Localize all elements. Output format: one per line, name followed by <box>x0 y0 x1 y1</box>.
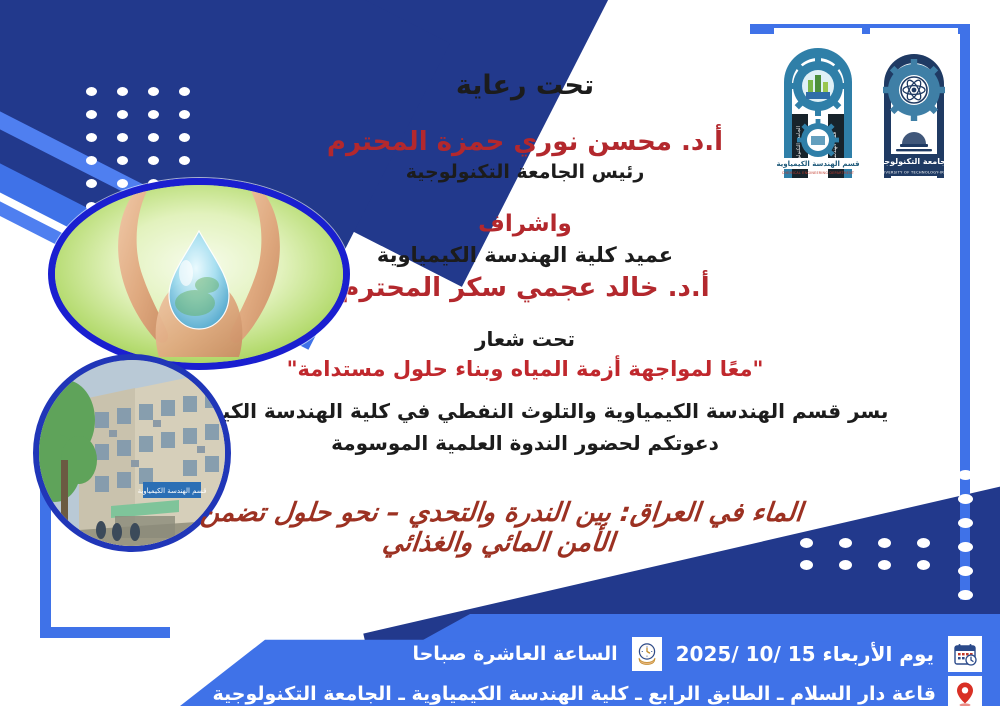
svg-text:CHEMICAL ENGINEERING DEPARTMEN: CHEMICAL ENGINEERING DEPARTMENT <box>782 171 855 175</box>
svg-text:UNIVERSITY OF TECHNOLOGY-IRAQ: UNIVERSITY OF TECHNOLOGY-IRAQ <box>878 171 949 175</box>
clock-icon <box>632 637 662 671</box>
footer-date-row: يوم الأربعاء 15 /10 /2025 الساعة العاشرة… <box>412 636 982 672</box>
hands-holding-water-drop-photo <box>48 178 350 370</box>
svg-text:قسم الهندسة الكيمياوية: قسم الهندسة الكيمياوية <box>138 487 207 495</box>
invitation-line-1: يسر قسم الهندسة الكيمياوية والتلوث النفط… <box>120 395 930 427</box>
calendar-icon <box>948 636 982 672</box>
chemical-engineering-department-logo: الجامعة التكنولوجية قسم الهندسة <box>774 28 862 178</box>
university-of-technology-iraq-logo: الجامعة التكنولوجية UNIVERSITY OF TECHNO… <box>870 28 958 178</box>
footer-bar: يوم الأربعاء 15 /10 /2025 الساعة العاشرة… <box>0 614 1000 706</box>
event-venue: قاعة دار السلام ـ الطابق الرابع ـ كلية ا… <box>213 683 937 705</box>
svg-text:الجامعة التكنولوجية: الجامعة التكنولوجية <box>876 157 952 166</box>
location-pin-icon <box>948 676 982 706</box>
event-time: الساعة العاشرة صباحا <box>412 643 617 665</box>
svg-text:قسم الهندسة الكيمياوية: قسم الهندسة الكيمياوية <box>776 160 860 168</box>
logo-group: الجامعة التكنولوجية UNIVERSITY OF TECHNO… <box>774 28 958 178</box>
footer-venue-row: قاعة دار السلام ـ الطابق الرابع ـ كلية ا… <box>213 676 983 706</box>
event-date: يوم الأربعاء 15 /10 /2025 <box>676 642 934 666</box>
invitation-line-2: دعوتكم لحضور الندوة العلمية الموسومة <box>120 427 930 459</box>
seminar-title: الماء في العراق: بين الندرة والتحدي – نح… <box>0 498 1000 558</box>
event-poster: الجامعة التكنولوجية UNIVERSITY OF TECHNO… <box>0 0 1000 706</box>
